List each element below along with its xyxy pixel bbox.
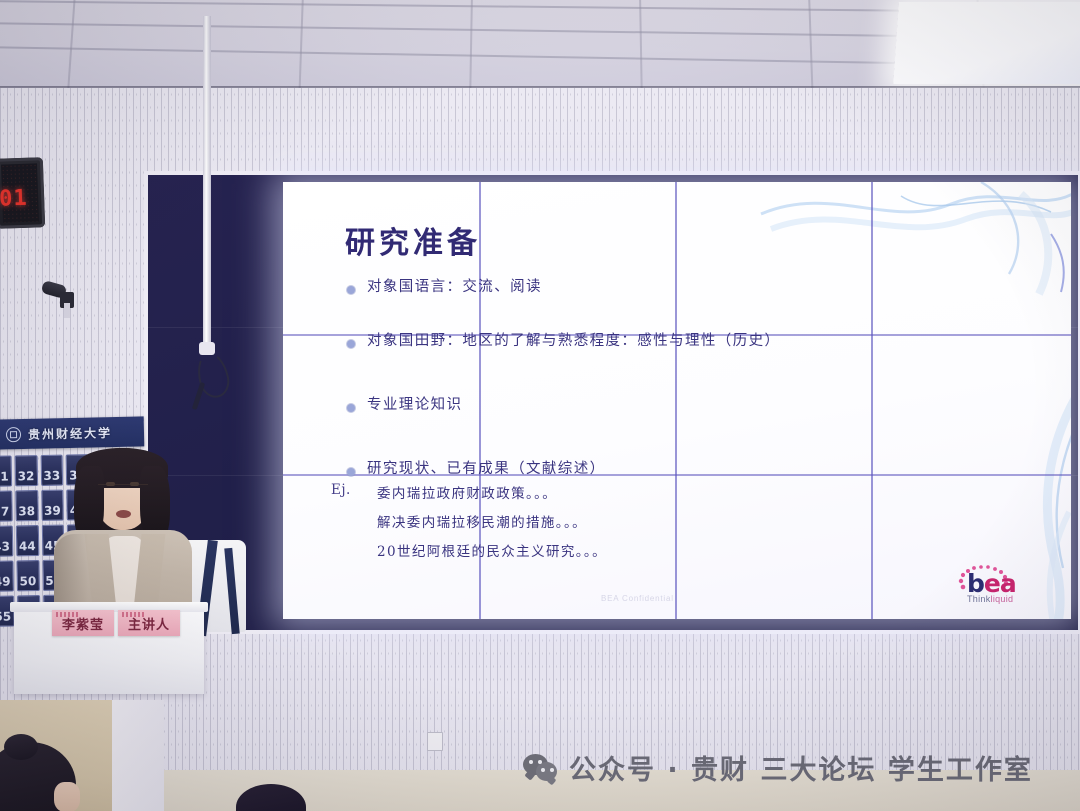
example-line: 委内瑞拉政府财政政策。。。 <box>377 482 557 502</box>
slide-bullet-text: 对象国田野：地区的了解与熟悉程度：感性与理性（历史） <box>367 332 780 350</box>
wall-outlet-icon <box>427 732 443 751</box>
example-row: Ej. 委内瑞拉政府财政政策。。。 <box>331 482 607 502</box>
example-line: 解决委内瑞拉移民潮的措施。。。 <box>377 511 587 531</box>
pocket-cell: 50 <box>16 560 39 591</box>
slide-bullet-item: 对象国田野：地区的了解与熟悉程度：感性与理性（历史） <box>347 332 1007 350</box>
example-label: Ej. <box>331 482 377 502</box>
name-card-logo-icon <box>56 612 78 617</box>
bea-logo: bea Thinkliquid <box>953 561 1045 605</box>
slide-example-block: Ej. 委内瑞拉政府财政政策。。。 解决委内瑞拉移民潮的措施。。。 20世纪阿根… <box>331 482 607 569</box>
pocket-cell: 43 <box>0 525 13 556</box>
example-row: 20世纪阿根廷的民众主义研究。。。 <box>377 540 607 560</box>
bea-tagline: Thinkliquid <box>967 594 1013 604</box>
pocket-cell: 44 <box>16 525 39 556</box>
pocket-cell: 38 <box>15 490 38 521</box>
speaker-role-card: 主讲人 <box>118 610 180 636</box>
name-card-logo-icon <box>122 612 144 617</box>
pocket-cell: 37 <box>0 490 13 521</box>
camera-mount-stem <box>64 303 70 318</box>
bullet-dot-icon <box>347 468 355 476</box>
bullet-dot-icon <box>347 404 355 412</box>
university-banner-text: 贵州财经大学 <box>28 424 112 443</box>
slide-bullet-list: 对象国语言：交流、阅读 对象国田野：地区的了解与熟悉程度：感性与理性（历史） 专… <box>347 278 1007 515</box>
led-display: 01 <box>0 157 45 229</box>
security-camera-icon <box>42 283 76 305</box>
ceiling-panel-light-icon <box>893 2 1080 84</box>
glasses-icon <box>98 484 148 496</box>
example-line: 20世纪阿根廷的民众主义研究。。。 <box>377 540 607 560</box>
pocket-cell: 32 <box>14 455 37 486</box>
bullet-dot-icon <box>347 286 355 294</box>
audience-face <box>54 782 80 811</box>
slide-title: 研究准备 <box>345 218 481 262</box>
watermark: 公众号 · 贵财 三大论坛 学生工作室 <box>523 748 1033 787</box>
slide-bullet-item: 对象国语言：交流、阅读 <box>347 278 1007 296</box>
slide-bullet-item: 专业理论知识 <box>347 396 1007 414</box>
mouth <box>116 510 131 518</box>
video-wall-screen[interactable]: 研究准备 对象国语言：交流、阅读 对象国田野：地区的了解与熟悉程度：感性与理性（… <box>283 182 1071 619</box>
led-clock-value: 01 <box>0 186 28 212</box>
slide-footer-note: BEA Confidential <box>601 594 674 603</box>
desk-side-panel <box>112 700 164 811</box>
wechat-icon <box>523 754 557 782</box>
pocket-cell: 31 <box>0 455 12 486</box>
university-seal-icon <box>6 427 21 442</box>
microphone-pole <box>203 16 211 346</box>
lecture-hall-photo: 研究准备 对象国语言：交流、阅读 对象国田野：地区的了解与熟悉程度：感性与理性（… <box>0 0 1080 811</box>
slide-bullet-text: 专业理论知识 <box>367 396 462 414</box>
slide-bullet-text: 对象国语言：交流、阅读 <box>367 278 542 296</box>
speaker-name-card: 李紫莹 <box>52 610 114 636</box>
audience-hair-bun <box>4 734 38 760</box>
example-row: 解决委内瑞拉移民潮的措施。。。 <box>377 511 607 531</box>
slide-bullet-item: 研究现状、已有成果（文献综述） <box>347 460 1007 478</box>
slide-bullet-text: 研究现状、已有成果（文献综述） <box>367 460 606 478</box>
watermark-text: 公众号 · 贵财 三大论坛 学生工作室 <box>569 748 1033 787</box>
university-banner: 贵州财经大学 <box>0 416 144 449</box>
bullet-dot-icon <box>347 340 355 348</box>
pocket-cell: 49 <box>0 560 14 591</box>
ceiling <box>0 0 1080 92</box>
